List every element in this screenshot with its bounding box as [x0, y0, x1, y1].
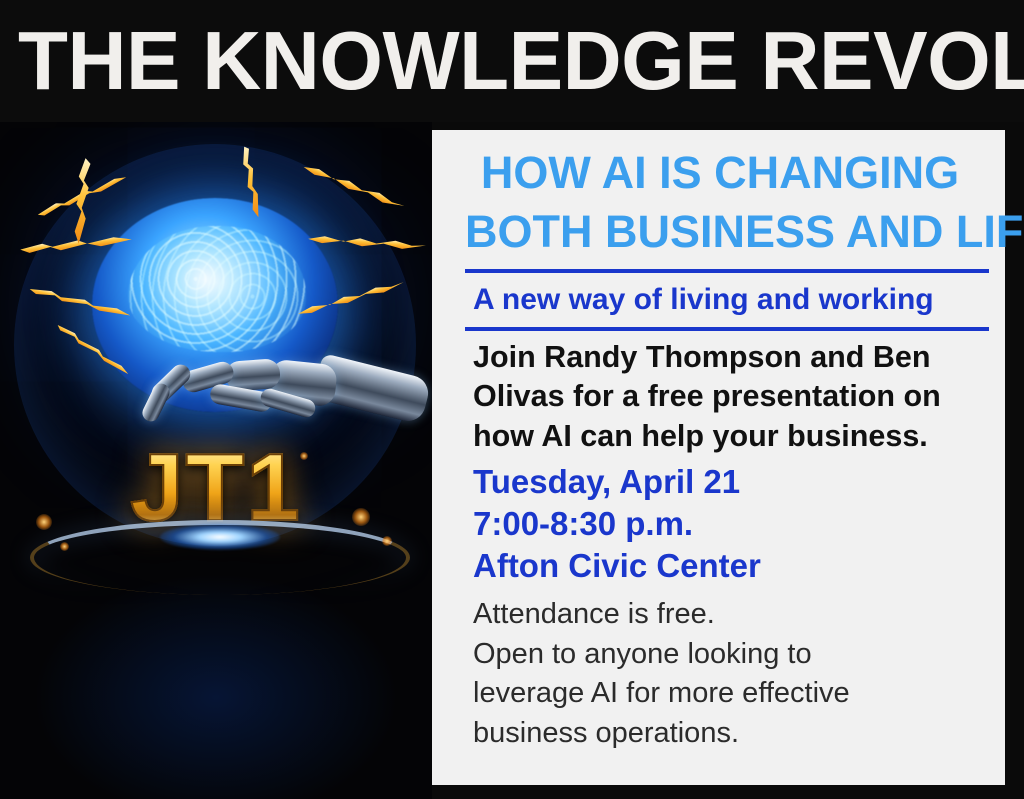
- title-bar: THE KNOWLEDGE REVOLUTION:: [0, 0, 1024, 122]
- divider-top: [465, 269, 989, 273]
- attendance-note-line-2: Open to anyone looking to: [473, 635, 989, 674]
- robot-hand-icon: [120, 344, 420, 440]
- light-flare: [160, 524, 280, 550]
- headline-line-2: BOTH BUSINESS AND LIFE!: [465, 205, 989, 260]
- brain-icon: [128, 226, 306, 352]
- attendance-note-line-4: business operations.: [473, 714, 989, 753]
- attendance-note-line-3: leverage AI for more effective: [473, 674, 989, 713]
- info-panel: HOW AI IS CHANGING BOTH BUSINESS AND LIF…: [432, 130, 1005, 785]
- ember-particle: [36, 514, 52, 530]
- attendance-note-line-1: Attendance is free.: [473, 595, 989, 634]
- event-date: Tuesday, April 21: [473, 461, 989, 503]
- ember-particle: [60, 542, 69, 551]
- event-poster: THE KNOWLEDGE REVOLUTION: JT1: [0, 0, 1024, 799]
- ember-particle: [352, 508, 370, 526]
- ember-particle: [382, 536, 392, 546]
- ember-particle: [300, 452, 308, 460]
- brain-robot-artwork: JT1: [0, 122, 432, 799]
- headline-line-1: HOW AI IS CHANGING: [465, 144, 989, 201]
- divider-bottom: [465, 327, 989, 331]
- page-title: THE KNOWLEDGE REVOLUTION:: [18, 22, 1024, 101]
- tagline: A new way of living and working: [473, 283, 989, 316]
- presentation-description: Join Randy Thompson and Ben Olivas for a…: [473, 338, 973, 457]
- event-venue: Afton Civic Center: [473, 545, 989, 587]
- event-time: 7:00-8:30 p.m.: [473, 503, 989, 545]
